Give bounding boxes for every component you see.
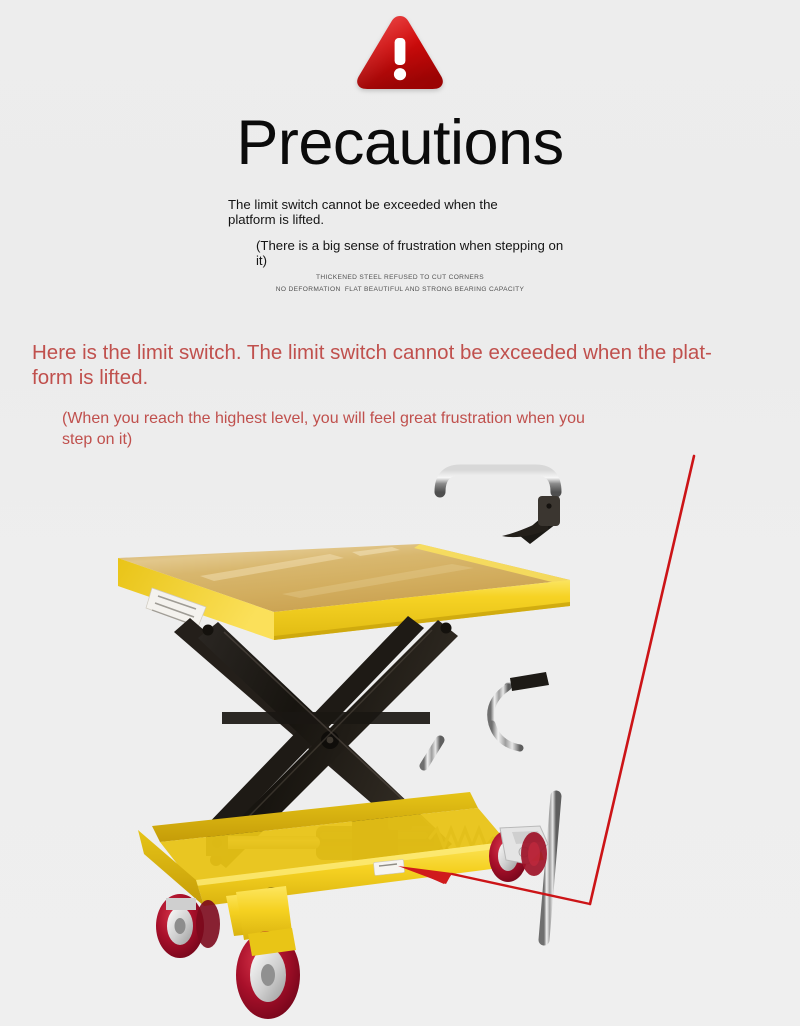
fineprint-line-1: THICKENED STEEL REFUSED TO CUT CORNERS [0,272,800,284]
product-photo [0,440,800,1026]
callout-headline-line-1: Here is the limit switch. The limit swit… [32,340,772,365]
warning-icon-container [0,12,800,96]
limit-switch-label [373,859,404,875]
callout-headline: Here is the limit switch. The limit swit… [32,340,772,390]
caster-rear-left [156,894,220,958]
callout-subtext-line-1: (When you reach the highest level, you w… [62,408,722,429]
warning-triangle-icon [354,12,446,92]
precautions-page: Precautions The limit switch cannot be e… [0,0,800,1026]
notice-line-2: platform is lifted. [228,213,568,228]
notice-block: The limit switch cannot be exceeded when… [228,198,568,268]
callout-headline-line-2: form is lifted. [32,365,772,390]
notice-line-1: The limit switch cannot be exceeded when… [228,198,568,213]
fineprint-line-2: NO DEFORMATION FLAT BEAUTIFUL AND STRONG… [0,284,800,296]
notice-line-3: (There is a big sense of frustration whe… [228,239,568,254]
page-title: Precautions [0,106,800,180]
fineprint-block: THICKENED STEEL REFUSED TO CUT CORNERS N… [0,272,800,296]
caster-front [236,886,300,1019]
pump-pedal [491,672,549,748]
caster-right-rear [489,826,548,882]
scissor-lift-illustration [0,440,800,1026]
notice-line-4: it) [228,254,568,269]
